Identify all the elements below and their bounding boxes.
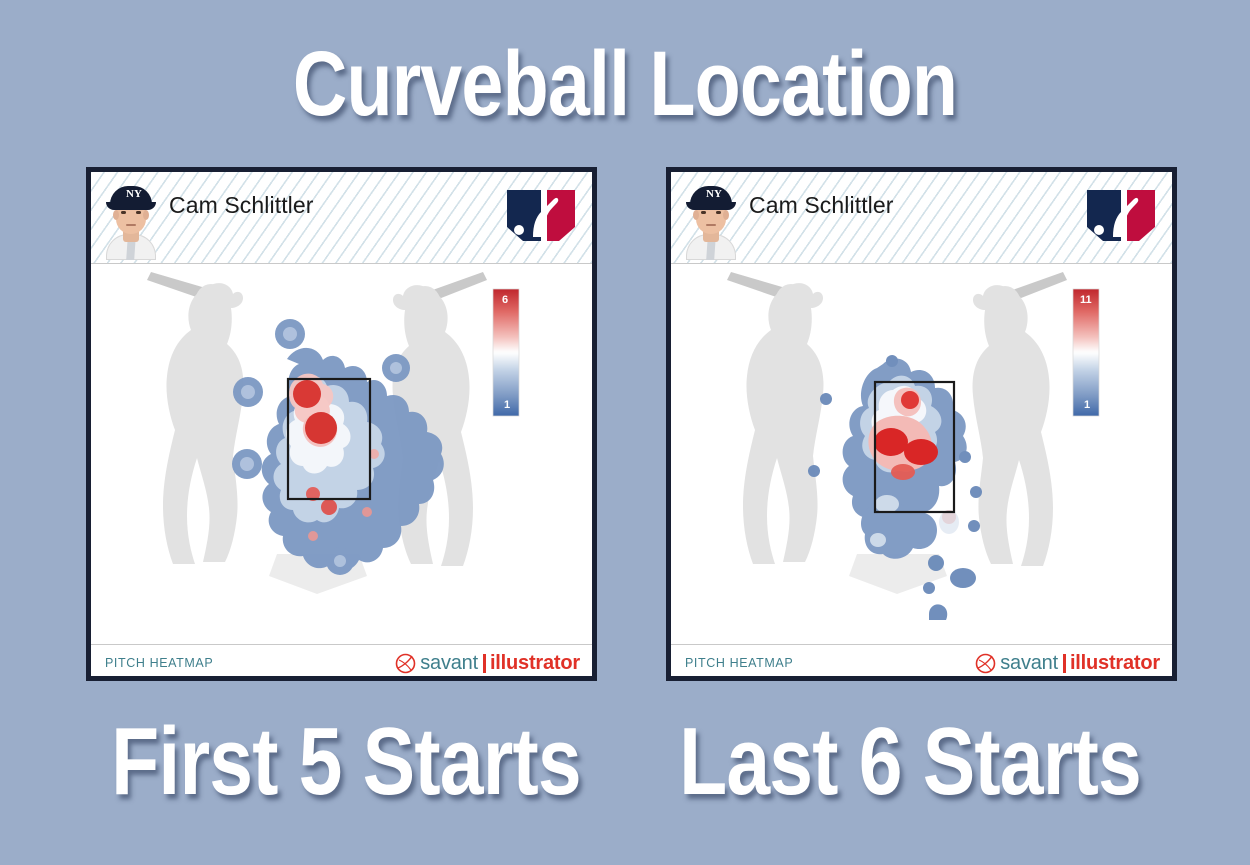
- heatmap-plot-last-6-starts: 11 1: [671, 264, 1172, 644]
- colorbar: [493, 289, 519, 416]
- brand-separator: [1063, 654, 1066, 673]
- colorbar-max-label: 6: [502, 294, 508, 306]
- brand-illustrator-text: illustrator: [490, 652, 580, 675]
- card-footer: PITCH HEATMAP savant illustrator: [671, 644, 1172, 681]
- savant-illustrator-brand: savant illustrator: [395, 651, 580, 675]
- card-footer: PITCH HEATMAP savant illustrator: [91, 644, 592, 681]
- colorbar-max-label: 11: [1080, 294, 1092, 306]
- card-header: NY Cam Schlittler: [671, 172, 1172, 264]
- brand-savant-text: savant: [1000, 652, 1058, 675]
- heatmap-plot-first-5-starts: 6 1: [91, 264, 592, 644]
- player-name: Cam Schlittler: [749, 192, 894, 219]
- card-header: NY Cam Schlittler: [91, 172, 592, 264]
- player-name: Cam Schlittler: [169, 192, 314, 219]
- hotspot-1: [293, 380, 321, 408]
- heatmap-card-first-5-starts: NY Cam Schlittler: [86, 167, 597, 681]
- player-headshot-avatar: NY: [100, 174, 162, 260]
- footer-label: PITCH HEATMAP: [685, 656, 793, 670]
- colorbar: [1073, 289, 1099, 416]
- caption-last-6-starts: Last 6 Starts: [656, 708, 1164, 816]
- hotspot-1: [874, 428, 908, 456]
- page-title: Curveball Location: [113, 34, 1138, 134]
- colorbar-min-label: 1: [504, 399, 510, 411]
- colorbar-min-label: 1: [1084, 399, 1090, 411]
- mlb-logo-icon: [503, 187, 579, 244]
- hotspot-2: [904, 439, 938, 465]
- mlb-logo-icon: [1083, 187, 1159, 244]
- caption-first-5-starts: First 5 Starts: [92, 708, 600, 816]
- player-headshot-avatar: NY: [680, 174, 742, 260]
- baseball-icon: [975, 653, 996, 674]
- heatmap-card-last-6-starts: NY Cam Schlittler: [666, 167, 1177, 681]
- batter-silhouette-right: [973, 272, 1067, 566]
- hotspot-2: [305, 412, 337, 444]
- hotspot-3: [901, 391, 919, 409]
- brand-separator: [483, 654, 486, 673]
- savant-illustrator-brand: savant illustrator: [975, 651, 1160, 675]
- baseball-icon: [395, 653, 416, 674]
- brand-illustrator-text: illustrator: [1070, 652, 1160, 675]
- batter-silhouette-left: [727, 272, 823, 564]
- brand-savant-text: savant: [420, 652, 478, 675]
- batter-silhouette-left: [147, 272, 243, 564]
- footer-label: PITCH HEATMAP: [105, 656, 213, 670]
